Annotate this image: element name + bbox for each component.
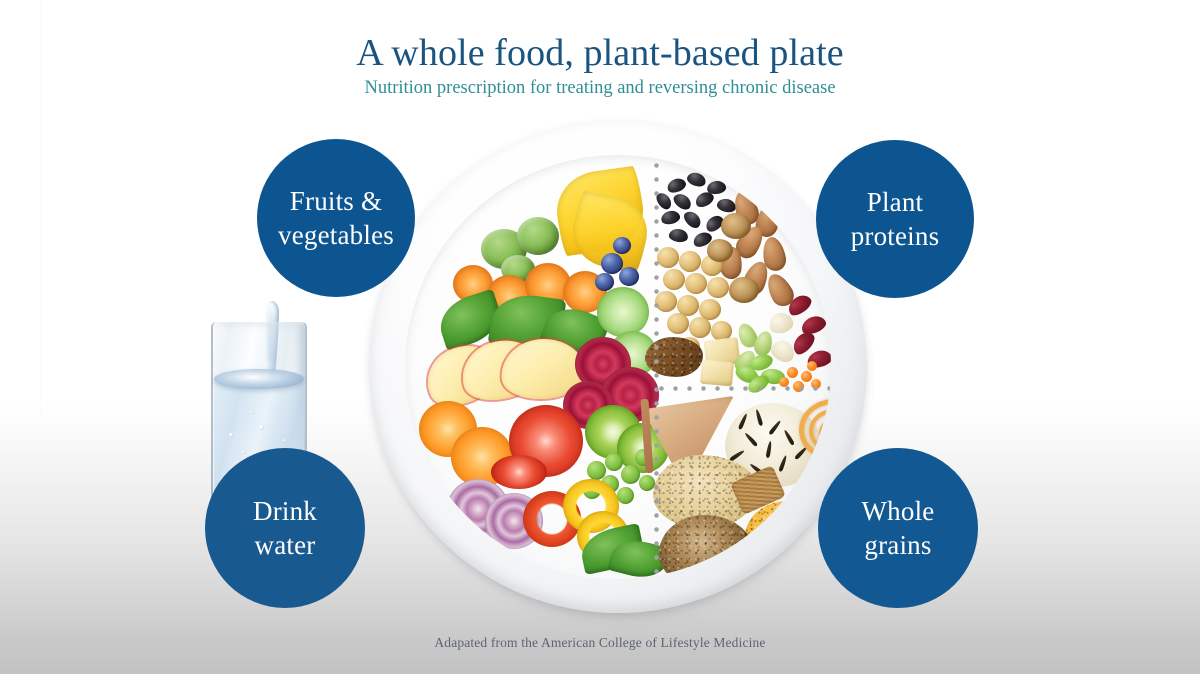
food-blueberry xyxy=(613,237,631,254)
food-black-bean xyxy=(660,209,682,226)
food-tofu-cube xyxy=(700,360,734,387)
label-plant-proteins-line2: proteins xyxy=(851,219,940,253)
water-bubble xyxy=(251,411,254,414)
label-fruits-vegetables-line2: vegetables xyxy=(278,218,394,252)
food-layer xyxy=(405,155,831,579)
food-red-lentil xyxy=(787,367,798,378)
food-red-lentil xyxy=(807,361,817,371)
label-drink-water-line1: Drink xyxy=(253,494,317,528)
water-bubble xyxy=(243,451,246,454)
label-fruits-vegetables[interactable]: Fruits & vegetables xyxy=(257,139,415,297)
water-bubble xyxy=(229,433,233,437)
label-whole-grains-line2: grains xyxy=(862,528,935,562)
infographic-canvas: A whole food, plant-based plate Nutritio… xyxy=(0,0,1200,674)
food-blueberry xyxy=(619,267,639,286)
food-plate-image xyxy=(369,121,867,613)
food-chickpea xyxy=(679,251,701,272)
water-surface xyxy=(214,369,304,389)
divider-horizontal-dotted xyxy=(659,386,831,391)
label-fruits-vegetables-line1: Fruits & xyxy=(278,184,394,218)
food-walnut xyxy=(707,239,733,262)
label-whole-grains-line1: Whole xyxy=(862,494,935,528)
food-chickpea xyxy=(685,273,707,294)
header: A whole food, plant-based plate Nutritio… xyxy=(0,30,1200,101)
label-plant-proteins-line1: Plant xyxy=(851,185,940,219)
page-subtitle: Nutrition prescription for treating and … xyxy=(0,75,1200,101)
food-walnut xyxy=(729,277,759,303)
food-walnut xyxy=(721,213,751,239)
page-title: A whole food, plant-based plate xyxy=(0,30,1200,76)
food-red-lentil xyxy=(801,371,812,382)
food-pea xyxy=(605,453,623,471)
food-black-bean xyxy=(685,170,707,188)
water-bubble xyxy=(259,425,264,430)
attribution-footer: Adapated from the American College of Li… xyxy=(0,635,1200,651)
water-bubble xyxy=(283,439,286,442)
food-quinoa xyxy=(659,515,753,579)
label-plant-proteins[interactable]: Plant proteins xyxy=(816,140,974,298)
food-chickpea xyxy=(667,313,689,334)
plate-well xyxy=(405,155,831,579)
food-pea xyxy=(617,487,634,504)
food-broccoli xyxy=(517,217,559,255)
food-black-bean xyxy=(681,208,704,231)
food-black-bean xyxy=(668,228,689,244)
food-black-bean xyxy=(665,176,687,195)
food-black-bean xyxy=(671,191,694,213)
food-pea xyxy=(621,465,640,484)
label-drink-water-line2: water xyxy=(253,528,317,562)
food-chickpea xyxy=(657,247,679,268)
food-chickpea xyxy=(707,277,729,298)
food-chickpea xyxy=(663,269,685,290)
divider-vertical-dotted xyxy=(654,163,659,579)
food-chickpea xyxy=(689,317,711,338)
label-drink-water[interactable]: Drink water xyxy=(205,448,365,608)
food-cucumber-slice xyxy=(597,287,649,337)
food-tomato-slice xyxy=(491,455,547,489)
label-whole-grains[interactable]: Whole grains xyxy=(818,448,978,608)
